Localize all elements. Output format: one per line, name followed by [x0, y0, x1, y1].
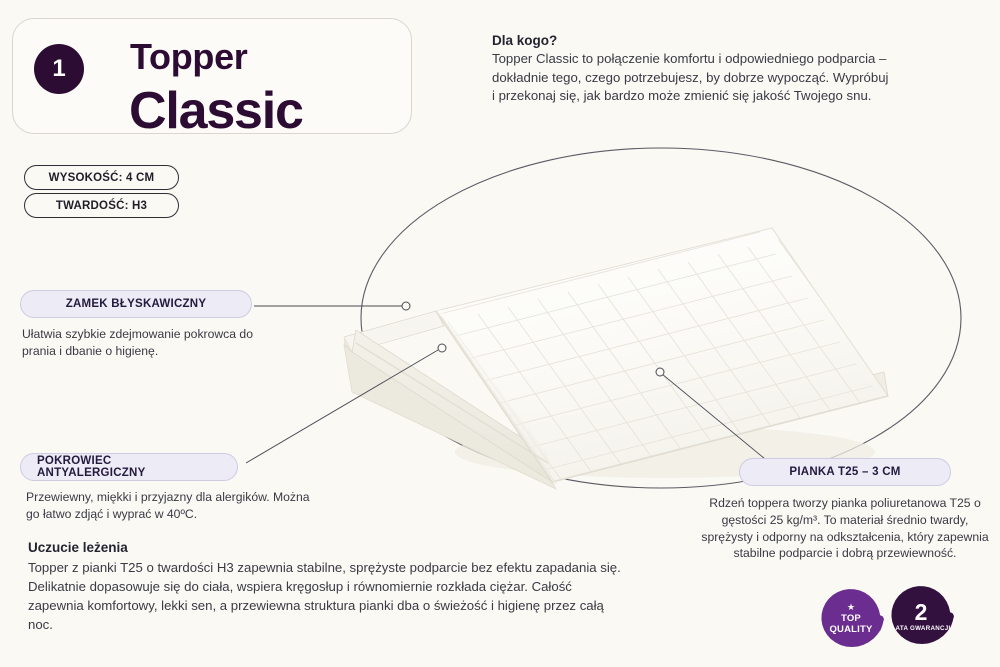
callout-zipper-description: Ułatwia szybkie zdejmowanie pokrowca do … — [22, 326, 272, 360]
feeling-block: Uczucie leżenia Topper z pianki T25 o tw… — [28, 540, 628, 635]
focus-ellipse — [361, 148, 961, 488]
seal-top-quality-line2: QUALITY — [829, 625, 872, 636]
callout-cover-description: Przewiewny, miękki i przyjazny dla alerg… — [26, 489, 320, 523]
step-number-badge: 1 — [34, 44, 84, 94]
callout-cover: POKROWIEC ANTYALERGICZNY Przewiewny, mię… — [20, 453, 320, 523]
intro-heading: Dla kogo? — [492, 33, 894, 48]
product-title-line2: Classic — [129, 85, 303, 137]
feeling-paragraph: Topper z pianki T25 o twardości H3 zapew… — [28, 558, 628, 635]
seal-warranty-years: 2 — [915, 601, 928, 624]
star-icon: ★ — [847, 603, 855, 612]
leader-lines — [246, 306, 782, 473]
callout-foam-label: PIANKA T25 – 3 CM — [739, 458, 951, 486]
seal-warranty: 2 LATA GWARANCJI — [888, 583, 954, 649]
seal-top-quality-line1: TOP — [841, 614, 861, 625]
zipper-line — [356, 343, 548, 463]
callout-zipper: ZAMEK BŁYSKAWICZNY Ułatwia szybkie zdejm… — [20, 290, 272, 360]
header-card: 1 Topper Classic — [12, 18, 412, 134]
marker-zipper — [402, 302, 410, 310]
cover-top-face — [436, 228, 888, 482]
intro-block: Dla kogo? Topper Classic to połączenie k… — [492, 33, 894, 106]
infographic-root: 1 Topper Classic WYSOKOŚĆ: 4 CM TWARDOŚĆ… — [0, 0, 1000, 667]
marker-cover — [438, 344, 446, 352]
leader-end-markers — [402, 302, 664, 376]
marker-foam — [656, 368, 664, 376]
product-title-line1: Topper — [130, 39, 248, 75]
feeling-heading: Uczucie leżenia — [28, 540, 628, 555]
callout-foam-description: Rdzeń toppera tworzy pianka poliuretanow… — [700, 495, 990, 562]
seal-badges: ★ TOP QUALITY 2 LATA GWARANCJI — [818, 583, 978, 657]
callout-zipper-label: ZAMEK BŁYSKAWICZNY — [20, 290, 252, 318]
spec-pill-height: WYSOKOŚĆ: 4 CM — [24, 165, 179, 190]
seal-warranty-label: LATA GWARANCJI — [891, 625, 950, 632]
seal-top-quality: ★ TOP QUALITY — [818, 586, 884, 652]
intro-paragraph: Topper Classic to połączenie komfortu i … — [492, 50, 894, 106]
spec-pill-firmness: TWARDOŚĆ: H3 — [24, 193, 179, 218]
callout-foam: PIANKA T25 – 3 CM Rdzeń toppera tworzy p… — [700, 458, 990, 562]
callout-cover-label: POKROWIEC ANTYALERGICZNY — [20, 453, 238, 481]
